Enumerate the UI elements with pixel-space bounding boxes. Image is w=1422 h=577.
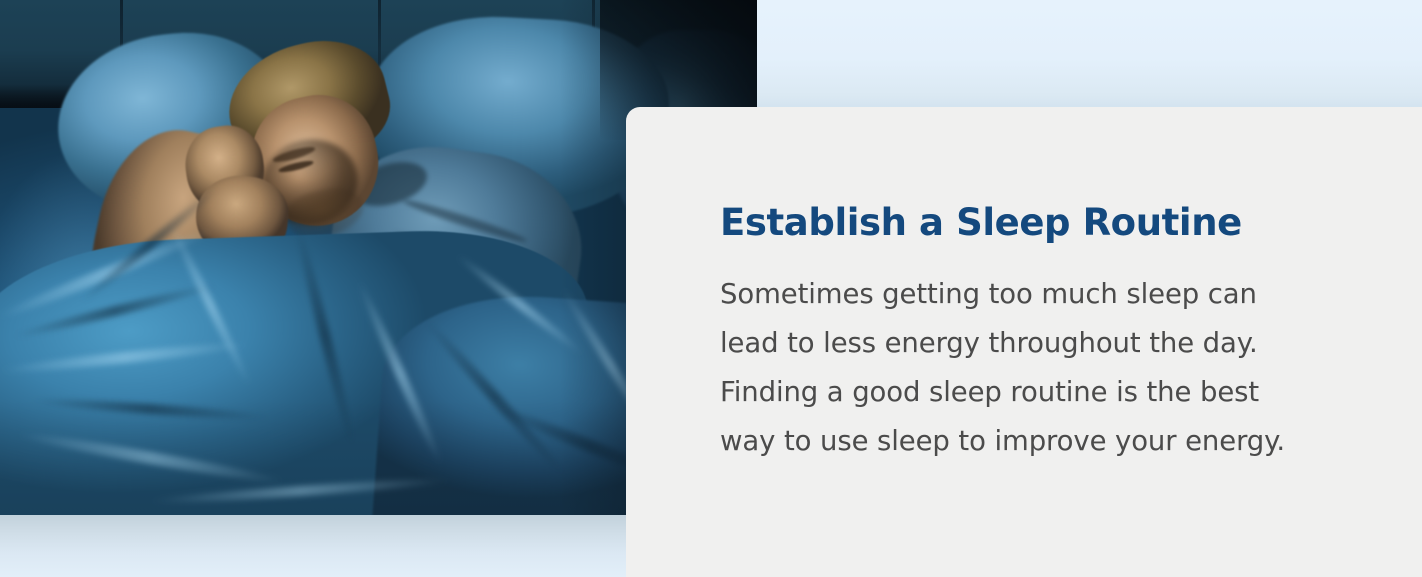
card-body-text: Sometimes getting too much sleep can lea… (720, 244, 1340, 466)
promo-banner: Establish a Sleep Routine Sometimes gett… (0, 0, 1422, 577)
body-line: way to use sleep to improve your energy. (720, 417, 1340, 466)
background-gradient-bottom-left (0, 515, 626, 577)
text-card: Establish a Sleep Routine Sometimes gett… (626, 107, 1422, 577)
page-title: Establish a Sleep Routine (720, 107, 1364, 244)
body-line: Finding a good sleep routine is the best (720, 368, 1340, 417)
body-line: lead to less energy throughout the day. (720, 319, 1340, 368)
background-gradient-top-right (757, 0, 1422, 108)
body-line: Sometimes getting too much sleep can (720, 270, 1340, 319)
